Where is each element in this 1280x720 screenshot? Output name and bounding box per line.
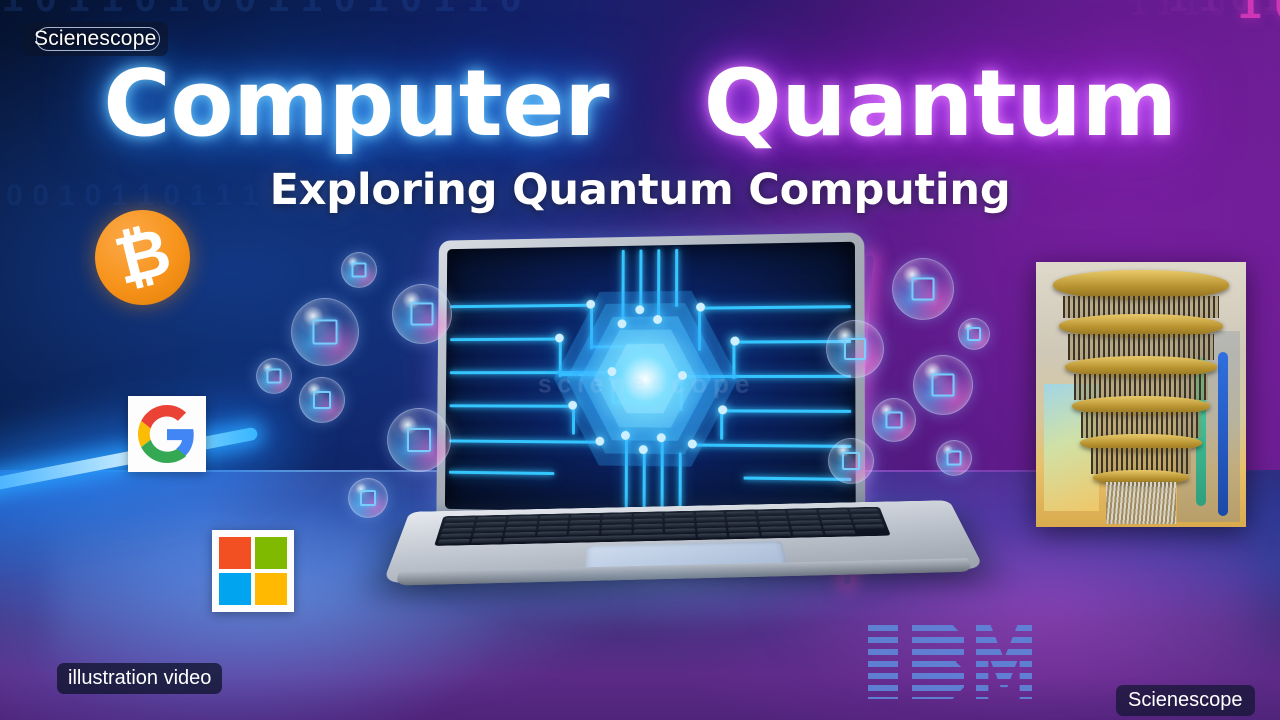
top-watermark-text: Scienescope xyxy=(34,27,156,50)
laptop-screen: scienescope xyxy=(445,242,856,517)
ibm-logo xyxy=(868,625,1028,699)
microsoft-square-yellow xyxy=(255,573,287,605)
video-thumbnail-canvas: 1 0 1 1 0 1 0 0 1 1 0 1 0 1 1 0 0 1 1 0 … xyxy=(0,0,1280,720)
laptop: scienescope xyxy=(412,236,952,616)
binary-rain-column-right-4: 1 1 1 0 1 1 0 0 1 1 0 1 1 0 1 0 xyxy=(1130,0,1280,21)
laptop-lid: scienescope xyxy=(436,232,865,529)
ibm-letter-i xyxy=(868,625,898,699)
page-title: Computer Quantum xyxy=(0,58,1280,150)
qubit-bubble xyxy=(958,318,990,350)
qubit-bubble xyxy=(256,358,292,394)
qubit-bubble xyxy=(892,258,954,320)
google-logo xyxy=(128,396,206,472)
qubit-bubble xyxy=(826,320,884,378)
qubit-bubble xyxy=(828,438,874,484)
screen-watermark: scienescope xyxy=(538,368,756,399)
title-word-computer: Computer xyxy=(103,50,609,157)
binary-rain-column-left-3: 1 1 0 1 0 1 1 0 1 0 1 1 0 0 1 0 xyxy=(68,0,533,5)
ibm-letter-m xyxy=(976,625,1032,699)
fridge-cable-bundle xyxy=(1106,482,1176,524)
qubit-bubble xyxy=(872,398,916,442)
caption-badge: illustration video xyxy=(57,663,222,694)
qubit-bubble xyxy=(913,355,973,415)
binary-rain-column-right-3: 1 0 0 1 1 0 1 1 1 0 1 0 1 0 1 1 xyxy=(1238,0,1280,26)
qubit-bubble xyxy=(387,408,451,472)
binary-rain-column-right-2: 0 1 1 0 0 1 1 1 0 1 0 0 1 1 1 0 xyxy=(1200,0,1280,2)
laptop-keyboard[interactable] xyxy=(434,507,891,546)
ibm-letter-b xyxy=(912,625,964,699)
qubit-bubble xyxy=(392,284,452,344)
bitcoin-logo: ₿ xyxy=(95,210,190,305)
qubit-bubble xyxy=(291,298,359,366)
quantum-computer-photo xyxy=(1036,262,1246,527)
qubit-bubble xyxy=(348,478,388,518)
top-watermark-badge: Scienescope xyxy=(22,22,168,56)
microsoft-square-blue xyxy=(219,573,251,605)
microsoft-square-red xyxy=(219,537,251,569)
binary-rain-column-right-1: 1 1 0 1 1 0 1 0 0 1 1 1 0 1 0 1 xyxy=(1168,0,1280,17)
qubit-bubble xyxy=(936,440,972,476)
photo-blue-hose xyxy=(1218,352,1228,516)
google-g-icon xyxy=(138,405,196,463)
microsoft-logo xyxy=(212,530,294,612)
laptop-base xyxy=(383,500,985,583)
bottom-watermark-badge: Scienescope xyxy=(1116,685,1255,716)
bitcoin-symbol-icon: ₿ xyxy=(108,218,176,295)
qubit-bubble xyxy=(299,377,345,423)
microsoft-square-green xyxy=(255,537,287,569)
qubit-bubble xyxy=(341,252,377,288)
binary-rain-column-left-1: 1 0 1 1 0 1 0 0 1 1 0 1 0 1 1 0 xyxy=(2,0,522,20)
title-word-quantum: Quantum xyxy=(704,50,1177,157)
page-subtitle: Exploring Quantum Computing xyxy=(0,165,1280,215)
laptop-reflection xyxy=(430,575,900,635)
